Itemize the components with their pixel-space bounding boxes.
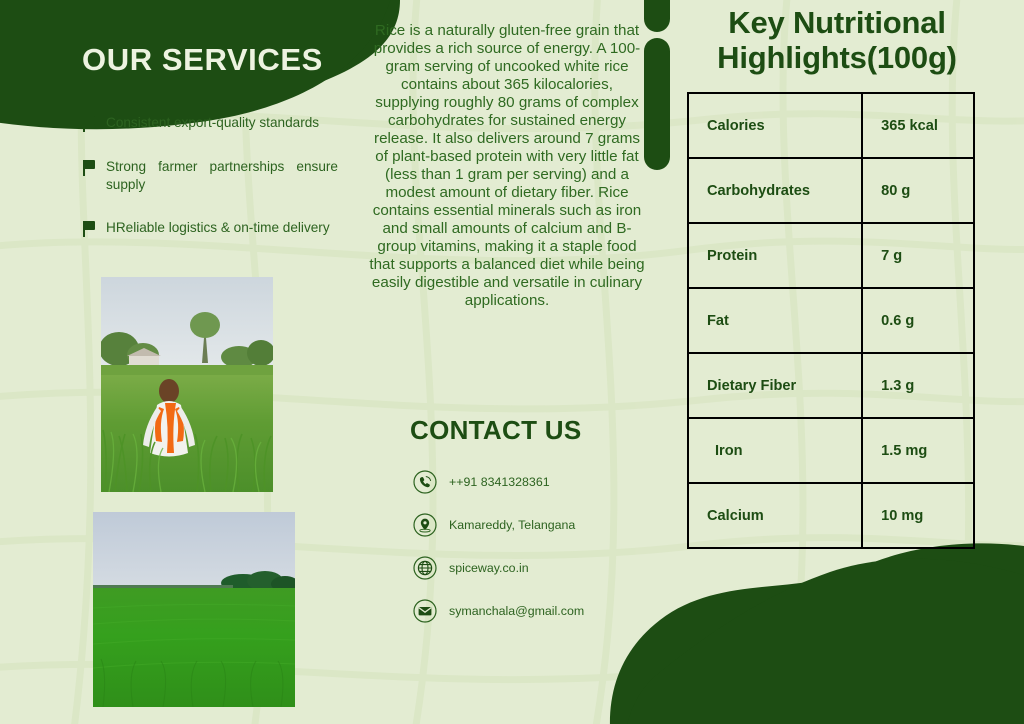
- nutrient-value: 1.5 mg: [862, 418, 974, 483]
- services-list: Consistent export-quality standards Stro…: [82, 114, 344, 263]
- farmer-in-paddy-field-photo: [101, 277, 273, 492]
- nutrient-value: 80 g: [862, 158, 974, 223]
- nutrition-table: Calories 365 kcal Carbohydrates 80 g Pro…: [687, 92, 975, 549]
- nutrient-value: 365 kcal: [862, 93, 974, 158]
- table-row: Iron 1.5 mg: [688, 418, 974, 483]
- service-item-label: HReliable logistics & on-time delivery: [106, 219, 338, 237]
- table-row: Calories 365 kcal: [688, 93, 974, 158]
- nutrient-value: 7 g: [862, 223, 974, 288]
- brochure-page: OUR SERVICES Consistent export-quality s…: [0, 0, 1024, 724]
- description-column: Rice is a naturally gluten-free grain th…: [360, 0, 650, 724]
- nutrient-label: Calcium: [688, 483, 862, 548]
- nutrient-label: Protein: [688, 223, 862, 288]
- globe-icon: [413, 556, 437, 580]
- phone-icon: [413, 470, 437, 494]
- nutrient-label: Fat: [688, 288, 862, 353]
- nutrient-label: Calories: [688, 93, 862, 158]
- nutrition-title-line1: Key Nutritional: [650, 6, 1024, 41]
- service-item: Consistent export-quality standards: [82, 114, 344, 132]
- nutrient-value: 1.3 g: [862, 353, 974, 418]
- service-item: HReliable logistics & on-time delivery: [82, 219, 344, 237]
- location-pin-icon: [413, 513, 437, 537]
- service-item-label: Consistent export-quality standards: [106, 114, 338, 132]
- contact-phone-value: ++91 8341328361: [449, 475, 550, 489]
- flag-bullet-icon: [82, 116, 95, 132]
- contact-us-title: CONTACT US: [410, 415, 582, 446]
- contact-row-address[interactable]: Kamareddy, Telangana: [413, 513, 584, 537]
- nutrient-label: Carbohydrates: [688, 158, 862, 223]
- contact-row-website[interactable]: spiceway.co.in: [413, 556, 584, 580]
- nutrition-column: Key Nutritional Highlights(100g) Calorie…: [650, 0, 1024, 724]
- flag-bullet-icon: [82, 221, 95, 237]
- table-row: Calcium 10 mg: [688, 483, 974, 548]
- services-title: OUR SERVICES: [82, 42, 323, 78]
- envelope-icon: [413, 599, 437, 623]
- nutrient-label: Iron: [688, 418, 862, 483]
- table-row: Dietary Fiber 1.3 g: [688, 353, 974, 418]
- nutrition-title-line2: Highlights(100g): [650, 41, 1024, 76]
- service-item: Strong farmer partnerships ensure supply: [82, 158, 344, 193]
- rice-description-paragraph: Rice is a naturally gluten-free grain th…: [369, 22, 645, 310]
- contact-list: ++91 8341328361 Kamareddy, Telangana: [413, 470, 584, 642]
- services-column: OUR SERVICES Consistent export-quality s…: [0, 0, 360, 724]
- table-row: Fat 0.6 g: [688, 288, 974, 353]
- contact-address-value: Kamareddy, Telangana: [449, 518, 575, 532]
- service-item-label: Strong farmer partnerships ensure supply: [106, 158, 338, 193]
- nutrient-label: Dietary Fiber: [688, 353, 862, 418]
- contact-row-email[interactable]: symanchala@gmail.com: [413, 599, 584, 623]
- nutrition-title: Key Nutritional Highlights(100g): [650, 6, 1024, 75]
- nutrient-value: 10 mg: [862, 483, 974, 548]
- green-paddy-field-photo: [93, 512, 295, 707]
- contact-email-value: symanchala@gmail.com: [449, 604, 584, 618]
- flag-bullet-icon: [82, 160, 95, 176]
- table-row: Protein 7 g: [688, 223, 974, 288]
- table-row: Carbohydrates 80 g: [688, 158, 974, 223]
- contact-row-phone[interactable]: ++91 8341328361: [413, 470, 584, 494]
- contact-website-value: spiceway.co.in: [449, 561, 529, 575]
- nutrient-value: 0.6 g: [862, 288, 974, 353]
